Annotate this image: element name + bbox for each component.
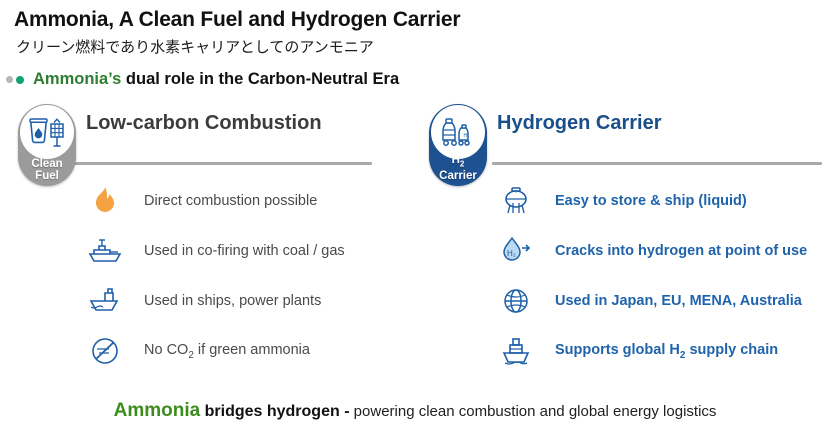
feature-label: Easy to store & ship (liquid) — [555, 193, 747, 209]
globe-icon — [497, 283, 535, 319]
feature-label: Used in co-firing with coal / gas — [144, 243, 345, 259]
no-co2-icon-glyph — [90, 336, 120, 366]
feature-item: Easy to store & ship (liquid) — [497, 176, 830, 226]
storage-tank-icon — [497, 183, 535, 219]
footer-strong-text: bridges hydrogen - — [200, 403, 349, 420]
section-bullet: Ammonia’s dual role in the Carbon-Neutra… — [6, 70, 399, 89]
feature-item: Used in ships, power plants — [86, 276, 426, 326]
page-title: Ammonia, A Clean Fuel and Hydrogen Carri… — [14, 8, 460, 32]
hydrogen-cylinders-icon: H₂ — [437, 115, 479, 149]
badge-h2-carrier-label: H2 Carrier — [429, 154, 487, 182]
badge-label-line1: H — [452, 154, 460, 166]
feature-list-left: Direct combustion possible Used in co-fi… — [86, 176, 426, 376]
storage-tank-icon-glyph — [500, 185, 532, 217]
feature-item: Supports global H2 supply chain — [497, 326, 830, 376]
svg-text:H₂: H₂ — [464, 133, 470, 139]
tug-ship-icon-glyph — [88, 287, 122, 315]
front-ship-icon — [497, 333, 535, 369]
clean-fuel-tank-solar-icon — [27, 115, 67, 149]
feature-label: Used in ships, power plants — [144, 293, 321, 309]
section-bullet-text: Ammonia’s dual role in the Carbon-Neutra… — [33, 70, 399, 89]
globe-icon-glyph — [501, 286, 531, 316]
divider-right — [492, 162, 822, 165]
page-subtitle-japanese: クリーン燃料であり水素キャリアとしてのアンモニア — [16, 36, 374, 57]
feature-label-post: supply chain — [685, 342, 778, 358]
badge-clean-fuel: Clean Fuel — [18, 104, 76, 186]
feature-item: Used in co-firing with coal / gas — [86, 226, 426, 276]
badge-clean-fuel-label: Clean Fuel — [18, 158, 76, 182]
bullet-dot-green — [16, 76, 24, 84]
h2-droplet-icon-glyph: H₂ — [499, 235, 533, 267]
feature-item: Direct combustion possible — [86, 176, 426, 226]
footer-tagline: Ammonia bridges hydrogen - powering clea… — [0, 400, 830, 422]
divider-left — [72, 162, 372, 165]
feature-item: H₂ Cracks into hydrogen at point of use — [497, 226, 830, 276]
flame-icon-glyph — [93, 186, 117, 216]
badge-label-line2: Carrier — [439, 170, 477, 182]
badge-icon-circle: H₂ — [431, 105, 485, 159]
heading-low-carbon-combustion: Low-carbon Combustion — [86, 112, 322, 135]
heading-hydrogen-carrier: Hydrogen Carrier — [497, 112, 662, 135]
footer-rest-text: powering clean combustion and global ene… — [350, 403, 717, 420]
front-ship-icon-glyph — [501, 335, 531, 367]
flame-icon — [86, 183, 124, 219]
bullet-rest-text: dual role in the Carbon-Neutral Era — [121, 70, 399, 88]
svg-text:H₂: H₂ — [507, 249, 516, 258]
badge-label-line1-sub: 2 — [460, 159, 464, 168]
feature-list-right: Easy to store & ship (liquid) H₂ Cracks … — [497, 176, 830, 376]
feature-label: Direct combustion possible — [144, 193, 317, 209]
footer-ammonia-word: Ammonia — [114, 400, 201, 421]
no-co2-icon — [86, 333, 124, 369]
tug-ship-icon — [86, 283, 124, 319]
badge-label-line2: Fuel — [35, 170, 59, 182]
badge-h2-carrier: H₂ H2 Carrier — [429, 104, 487, 186]
feature-label: Cracks into hydrogen at point of use — [555, 243, 807, 259]
h2-droplet-icon: H₂ — [497, 233, 535, 269]
cargo-ship-icon — [86, 233, 124, 269]
feature-item: No CO2 if green ammonia — [86, 326, 426, 376]
feature-label: Supports global H2 supply chain — [555, 342, 778, 361]
feature-label-pre: No CO — [144, 342, 188, 358]
feature-label-pre: Supports global H — [555, 342, 680, 358]
bullet-dot-gray — [6, 76, 13, 83]
bullet-highlight-word: Ammonia’s — [33, 70, 121, 88]
feature-label-post: if green ammonia — [194, 342, 310, 358]
feature-label: Used in Japan, EU, MENA, Australia — [555, 293, 802, 309]
cargo-ship-icon-glyph — [88, 237, 122, 265]
feature-label: No CO2 if green ammonia — [144, 342, 310, 361]
badge-icon-circle — [20, 105, 74, 159]
badge-label-line1: Clean — [31, 158, 62, 170]
feature-item: Used in Japan, EU, MENA, Australia — [497, 276, 830, 326]
